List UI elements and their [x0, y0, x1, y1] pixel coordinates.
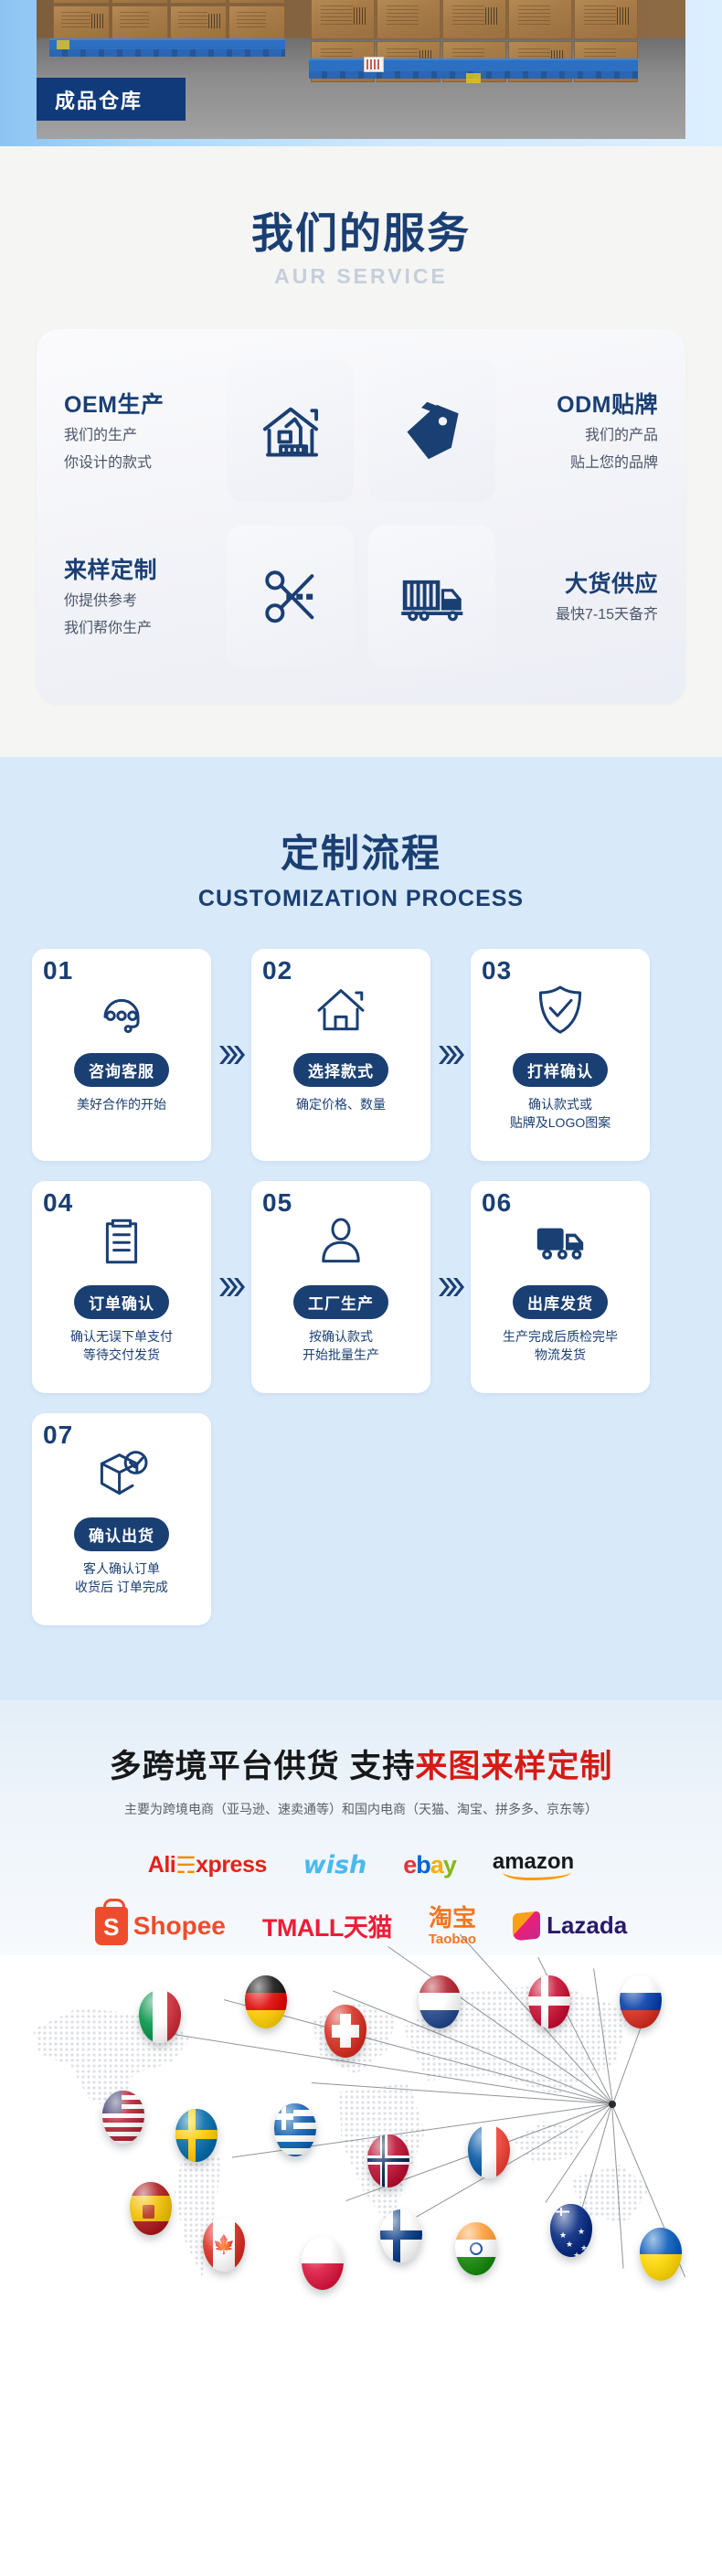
service-card-wrapper: OEM生产 我们的生产 你设计的款式 — [37, 329, 685, 704]
service-item-odm: ODM贴牌 我们的产品 贴上您的品牌 — [503, 387, 658, 474]
process-cell: 03 打样确认 确认款式或 贴牌及LOGO图案 — [471, 949, 690, 1161]
step-pill-label: 出库发货 — [513, 1285, 608, 1319]
process-cell: 04 订单确认 确认无误下单支付 等待交付发货 — [32, 1181, 251, 1393]
step-desc: 确定价格、数量 — [296, 1095, 386, 1113]
step-desc-line2: 贴牌及LOGO图案 — [510, 1113, 611, 1132]
process-step-07[interactable]: 07 确认出货 客人确认订单 收货 — [32, 1413, 211, 1625]
step-desc-line1: 生产完成后质检完毕 — [503, 1327, 618, 1346]
step-desc-line1: 客人确认订单 — [75, 1559, 168, 1578]
double-chevron-right-icon — [430, 1041, 471, 1069]
step-pill-label: 工厂生产 — [293, 1285, 388, 1319]
step-pill-label: 选择款式 — [293, 1053, 388, 1087]
process-steps-grid: 01 咨询客服 美好合作的开始 — [32, 949, 690, 1645]
lazada-logo: Lazada — [513, 1911, 627, 1940]
flag-united-states — [102, 2091, 144, 2144]
flag-italy — [139, 1990, 181, 2043]
shopee-logo: SShopee — [95, 1907, 226, 1945]
step-desc-line2: 物流发货 — [503, 1346, 618, 1364]
step-pill-label: 确认出货 — [74, 1517, 169, 1551]
process-section: 定制流程 CUSTOMIZATION PROCESS 01 — [0, 757, 722, 1700]
flag-switzerland — [324, 2005, 366, 2058]
ebay-logo: ebay — [403, 1851, 456, 1879]
amazon-logo: amazon — [493, 1849, 574, 1882]
world-map: 🍁 ★ ★ ★ ★ ★ — [0, 1955, 722, 2356]
factory-house-icon — [227, 360, 354, 502]
process-step-04[interactable]: 04 订单确认 确认无误下单支付 等待交付发货 — [32, 1181, 211, 1393]
tmall-logo: TMALL天猫 — [262, 1908, 392, 1943]
step-pill-label: 打样确认 — [513, 1053, 608, 1087]
double-chevron-right-icon — [211, 1041, 251, 1069]
step-desc-line2: 开始批量生产 — [303, 1346, 379, 1364]
service-item-desc-line1: 你提供参考 — [64, 591, 219, 612]
process-step-03[interactable]: 03 打样确认 确认款式或 贴牌及LOGO图案 — [471, 949, 650, 1161]
service-item-desc-line1: 最快7-15天备齐 — [503, 604, 658, 626]
service-item-desc-line2: 贴上您的品牌 — [503, 452, 658, 474]
process-cell: 01 咨询客服 美好合作的开始 — [32, 949, 251, 1161]
process-step-06[interactable]: 06 出库发货 — [471, 1181, 650, 1393]
process-step-05[interactable]: 05 工厂生产 按确认款式 开始批量生产 — [251, 1181, 430, 1393]
step-desc-line2: 等待交付发货 — [70, 1346, 173, 1364]
platform-logo-row-1: Ali☴xpress wish ebay amazon — [41, 1842, 681, 1889]
process-subtitle: CUSTOMIZATION PROCESS — [0, 886, 722, 912]
step-desc: 美好合作的开始 — [77, 1095, 166, 1113]
service-item-desc-line1: 我们的生产 — [64, 425, 219, 447]
product-detail-page: 成品仓库 我们的服务 AUR SERVICE OEM生产 我们的生产 你设计的款… — [0, 0, 722, 2356]
step-number: 02 — [262, 956, 292, 985]
flag-sweden — [175, 2109, 218, 2162]
flag-greece — [274, 2103, 316, 2156]
aliexpress-logo: Ali☴xpress — [148, 1852, 267, 1879]
process-cell: 05 工厂生产 按确认款式 开始批量生产 — [251, 1181, 471, 1393]
flag-russia — [620, 1975, 662, 2028]
flag-spain — [130, 2182, 172, 2235]
wish-logo: wish — [303, 1851, 367, 1879]
process-step-01[interactable]: 01 咨询客服 美好合作的开始 — [32, 949, 211, 1161]
step-desc-line1: 确认无误下单支付 — [70, 1327, 173, 1346]
hero-tag-label: 成品仓库 — [55, 85, 143, 114]
service-subtitle: AUR SERVICE — [0, 264, 722, 289]
service-item-desc-line2: 我们帮你生产 — [64, 618, 219, 640]
hero-banner: 成品仓库 — [0, 0, 722, 146]
step-desc-line1: 按确认款式 — [303, 1327, 379, 1346]
process-title: 定制流程 — [0, 823, 722, 878]
flag-poland — [302, 2237, 344, 2290]
flag-finland — [380, 2209, 422, 2262]
service-item-heading: ODM贴牌 — [503, 387, 658, 420]
service-item-heading: 来样定制 — [64, 552, 219, 585]
flag-norway — [367, 2134, 409, 2187]
service-card: OEM生产 我们的生产 你设计的款式 — [37, 329, 685, 704]
platform-logo-row-2: SShopee TMALL天猫 淘宝Taobao Lazada — [41, 1902, 681, 1950]
flag-ukraine — [640, 2228, 682, 2281]
platform-logos: Ali☴xpress wish ebay amazon SShopee TMAL… — [41, 1842, 681, 1950]
taobao-logo: 淘宝Taobao — [429, 1906, 476, 1946]
process-cell: 02 选择款式 确定价格、数量 — [251, 949, 471, 1161]
flag-germany — [245, 1975, 287, 2028]
process-step-02[interactable]: 02 选择款式 确定价格、数量 — [251, 949, 430, 1161]
service-item-desc-line1: 我们的产品 — [503, 425, 658, 447]
flag-denmark — [528, 1975, 570, 2028]
step-desc: 确认无误下单支付 等待交付发货 — [70, 1327, 173, 1365]
platform-section: 多跨境平台供货 支持来图来样定制 主要为跨境电商（亚马逊、速卖通等）和国内电商（… — [0, 1700, 722, 2356]
step-desc-line1: 确认款式或 — [510, 1095, 611, 1113]
step-pill-label: 订单确认 — [74, 1285, 169, 1319]
service-title: 我们的服务 — [0, 210, 722, 257]
step-desc-line2: 收货后 订单完成 — [75, 1578, 168, 1596]
step-pill-label: 咨询客服 — [74, 1053, 169, 1087]
step-number: 04 — [43, 1188, 73, 1218]
step-number: 01 — [43, 956, 73, 985]
service-item-desc-line2: 你设计的款式 — [64, 452, 219, 474]
flag-netherlands — [419, 1975, 461, 2028]
step-number: 07 — [43, 1421, 73, 1450]
platform-heading-black: 多跨境平台供货 支持 — [110, 1749, 416, 1784]
double-chevron-right-icon — [211, 1273, 251, 1301]
service-row-2: 来样定制 你提供参考 我们帮你生产 — [64, 526, 658, 667]
step-desc: 确认款式或 贴牌及LOGO图案 — [510, 1095, 611, 1133]
double-chevron-right-icon — [430, 1273, 471, 1301]
service-row-1: OEM生产 我们的生产 你设计的款式 — [64, 360, 658, 502]
price-tag-icon — [368, 360, 495, 502]
platform-heading-red: 来图来样定制 — [415, 1749, 612, 1784]
platform-heading: 多跨境平台供货 支持来图来样定制 — [0, 1740, 722, 1787]
step-number: 05 — [262, 1188, 292, 1218]
flag-canada: 🍁 — [203, 2219, 245, 2272]
flag-india — [455, 2222, 497, 2275]
step-number: 03 — [482, 956, 512, 985]
hero-tag-badge: 成品仓库 — [37, 78, 186, 121]
service-item-sample: 来样定制 你提供参考 我们帮你生产 — [64, 552, 219, 640]
scissors-icon — [227, 526, 354, 667]
step-desc: 客人确认订单 收货后 订单完成 — [75, 1559, 168, 1597]
hub-node-icon — [609, 2101, 616, 2108]
service-item-bulk: 大货供应 最快7-15天备齐 — [503, 566, 658, 626]
service-section: 我们的服务 AUR SERVICE OEM生产 我们的生产 你设计的款式 — [0, 146, 722, 757]
flag-australia: ★ ★ ★ ★ ★ — [550, 2204, 592, 2257]
service-item-oem: OEM生产 我们的生产 你设计的款式 — [64, 387, 219, 474]
service-item-heading: 大货供应 — [503, 566, 658, 599]
step-desc: 生产完成后质检完毕 物流发货 — [503, 1327, 618, 1365]
step-desc: 按确认款式 开始批量生产 — [303, 1327, 379, 1365]
process-cell: 06 出库发货 — [471, 1181, 690, 1393]
flag-france — [468, 2125, 510, 2178]
process-cell: 07 确认出货 客人确认订单 收货 — [32, 1413, 251, 1625]
step-number: 06 — [482, 1188, 512, 1218]
service-item-heading: OEM生产 — [64, 387, 219, 420]
delivery-truck-icon — [368, 526, 495, 667]
platform-subtitle: 主要为跨境电商（亚马逊、速卖通等）和国内电商（天猫、淘宝、拼多多、京东等） — [0, 1800, 722, 1818]
